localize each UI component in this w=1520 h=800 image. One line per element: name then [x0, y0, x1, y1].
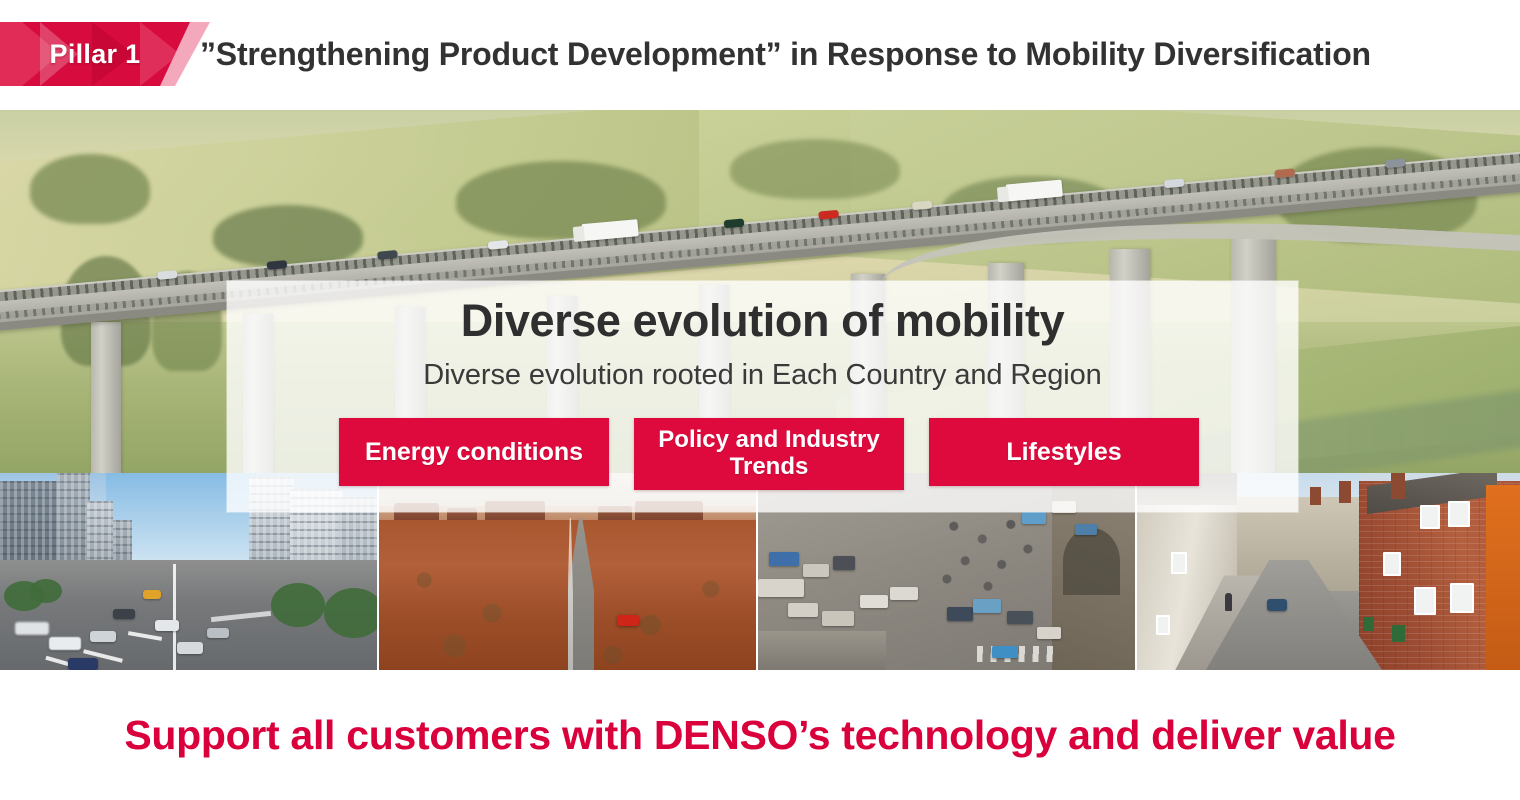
car-icon [1022, 512, 1046, 524]
car-icon [267, 260, 288, 270]
car-icon [1267, 599, 1287, 611]
window [1383, 552, 1401, 576]
van-icon [788, 603, 818, 617]
tree-icon [271, 583, 325, 627]
pillar-badge-label: Pillar 1 [0, 22, 190, 86]
car-icon [1075, 524, 1097, 535]
car-icon [90, 631, 116, 642]
chimney [1310, 487, 1321, 505]
panel-subheadline: Diverse evolution rooted in Each Country… [227, 359, 1298, 392]
car-icon [723, 218, 744, 228]
chip-group: Energy conditions Policy and Industry Tr… [339, 418, 1199, 490]
car-icon [15, 622, 49, 635]
van-icon [822, 611, 854, 626]
window [1450, 583, 1474, 613]
bus-icon [758, 579, 804, 597]
car-icon [487, 240, 508, 250]
car-icon [860, 595, 888, 608]
car-icon [818, 209, 839, 219]
orange-shopfront [1486, 485, 1520, 670]
car-icon [947, 607, 973, 621]
arch-structure [1063, 528, 1120, 595]
page-title: ”Strengthening Product Development” in R… [200, 22, 1371, 86]
car-icon [155, 620, 179, 631]
red-car-icon [617, 615, 639, 626]
chip-policy-industry-trends[interactable]: Policy and Industry Trends [634, 418, 904, 490]
bridge-railing [758, 631, 886, 670]
window [1414, 587, 1436, 615]
window [1420, 505, 1440, 529]
car-icon [143, 590, 161, 599]
car-icon [177, 642, 203, 654]
car-icon [377, 250, 398, 260]
car-icon [992, 646, 1018, 658]
car-icon [1274, 168, 1295, 178]
chip-energy-conditions[interactable]: Energy conditions [339, 418, 609, 486]
slide-footer: Support all customers with DENSO’s techn… [0, 670, 1520, 800]
wheelie-bin [1392, 625, 1405, 642]
panel-headline: Diverse evolution of mobility [227, 295, 1298, 347]
window [1156, 615, 1170, 635]
wheelie-bin [1363, 617, 1374, 631]
car-icon [912, 200, 933, 210]
truck-icon [833, 556, 855, 570]
car-icon [890, 587, 918, 600]
pedestrian-icon [1225, 593, 1232, 611]
crosswalk [977, 646, 1060, 662]
car-icon [1037, 627, 1061, 639]
car-icon [156, 270, 177, 280]
tree-cluster-icon [30, 154, 150, 224]
car-icon [973, 599, 1001, 613]
chimney [1391, 473, 1405, 499]
truck-icon [803, 564, 829, 577]
car-icon [1384, 158, 1405, 168]
chip-lifestyles[interactable]: Lifestyles [929, 418, 1199, 486]
car-icon [207, 628, 229, 638]
viaduct-pier [91, 322, 121, 475]
lane-marking [173, 564, 176, 670]
car-icon [68, 658, 98, 670]
tree-cluster-icon [213, 205, 363, 267]
car-icon [1164, 178, 1185, 188]
overlay-panel: Diverse evolution of mobility Diverse ev… [227, 281, 1298, 512]
car-icon [113, 609, 135, 619]
window [1448, 501, 1470, 527]
footer-message: Support all customers with DENSO’s techn… [124, 712, 1395, 759]
tree-icon [324, 588, 379, 638]
window [1171, 552, 1187, 574]
car-icon [49, 637, 81, 650]
tree-icon [30, 579, 62, 603]
chimney [1339, 481, 1351, 503]
tree-cluster-icon [730, 139, 900, 199]
slide-header: Pillar 1 ”Strengthening Product Developm… [0, 0, 1520, 110]
van-icon [769, 552, 799, 566]
car-icon [1007, 611, 1033, 624]
